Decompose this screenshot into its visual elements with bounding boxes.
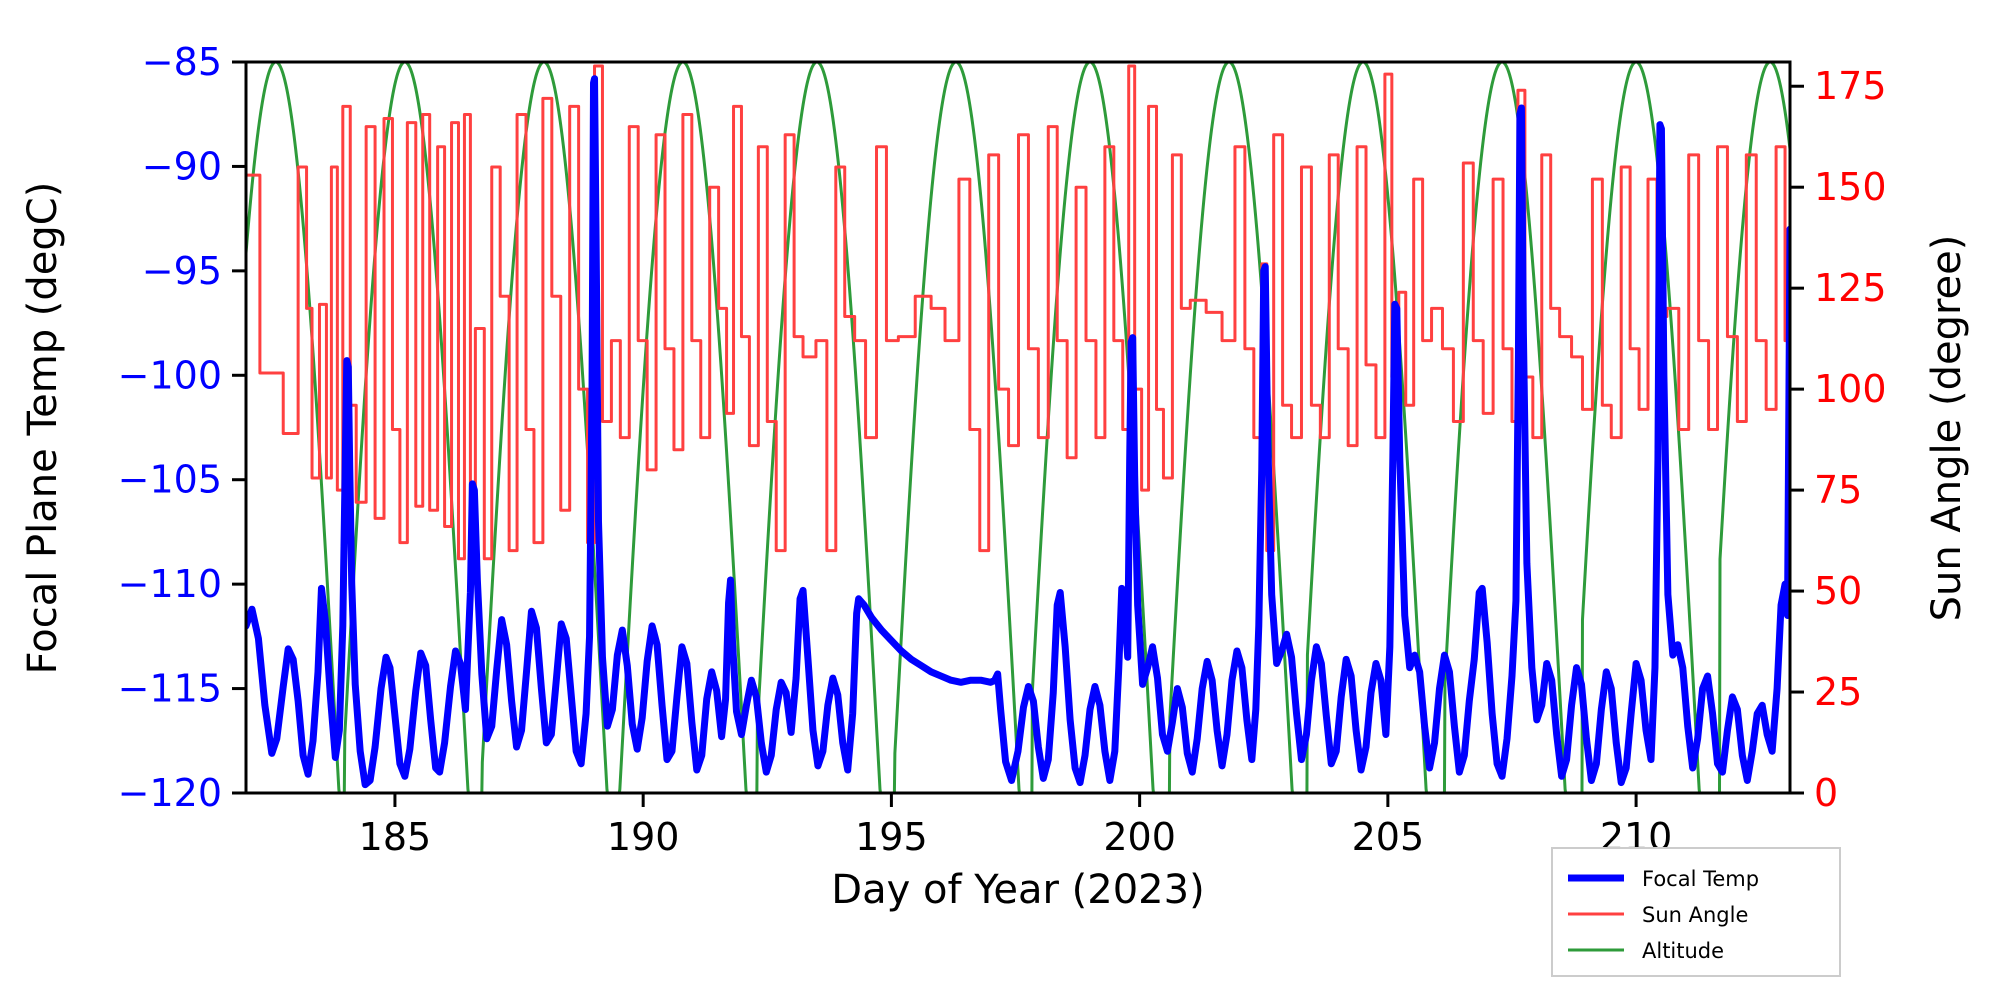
left-tick-label: −115 xyxy=(118,667,222,711)
y-axis-label-left: Focal Plane Temp (degC) xyxy=(20,182,66,675)
x-tick-label: 190 xyxy=(607,815,680,859)
left-tick-label: −120 xyxy=(118,771,222,815)
left-tick-label: −90 xyxy=(142,144,222,188)
right-tick-label: 100 xyxy=(1814,367,1887,411)
right-tick-label: 175 xyxy=(1814,64,1887,108)
y-axis-label-right: Sun Angle (degree) xyxy=(1924,235,1970,622)
right-tick-label: 0 xyxy=(1814,771,1838,815)
right-tick-label: 25 xyxy=(1814,670,1862,714)
x-tick-label: 205 xyxy=(1352,815,1425,859)
left-tick-label: −110 xyxy=(118,562,222,606)
chart-legend[interactable]: Focal TempSun AngleAltitude xyxy=(1552,848,1840,976)
left-tick-label: −105 xyxy=(118,458,222,502)
left-tick-label: −85 xyxy=(142,40,222,84)
right-tick-label: 125 xyxy=(1814,266,1887,310)
right-tick-label: 75 xyxy=(1814,468,1862,512)
legend-label: Sun Angle xyxy=(1642,903,1748,927)
x-tick-label: 195 xyxy=(855,815,928,859)
x-tick-label: 200 xyxy=(1103,815,1176,859)
chart-figure: −85−90−95−100−105−110−115−120 0255075100… xyxy=(0,0,2000,1000)
x-axis-label: Day of Year (2023) xyxy=(831,867,1204,913)
x-tick-label: 185 xyxy=(359,815,432,859)
left-tick-label: −95 xyxy=(142,249,222,293)
legend-label: Focal Temp xyxy=(1642,867,1759,891)
legend-label: Altitude xyxy=(1642,939,1724,963)
right-tick-label: 50 xyxy=(1814,569,1862,613)
left-tick-label: −100 xyxy=(118,353,222,397)
plot-canvas: −85−90−95−100−105−110−115−120 0255075100… xyxy=(0,0,2000,1000)
right-tick-label: 150 xyxy=(1814,165,1887,209)
